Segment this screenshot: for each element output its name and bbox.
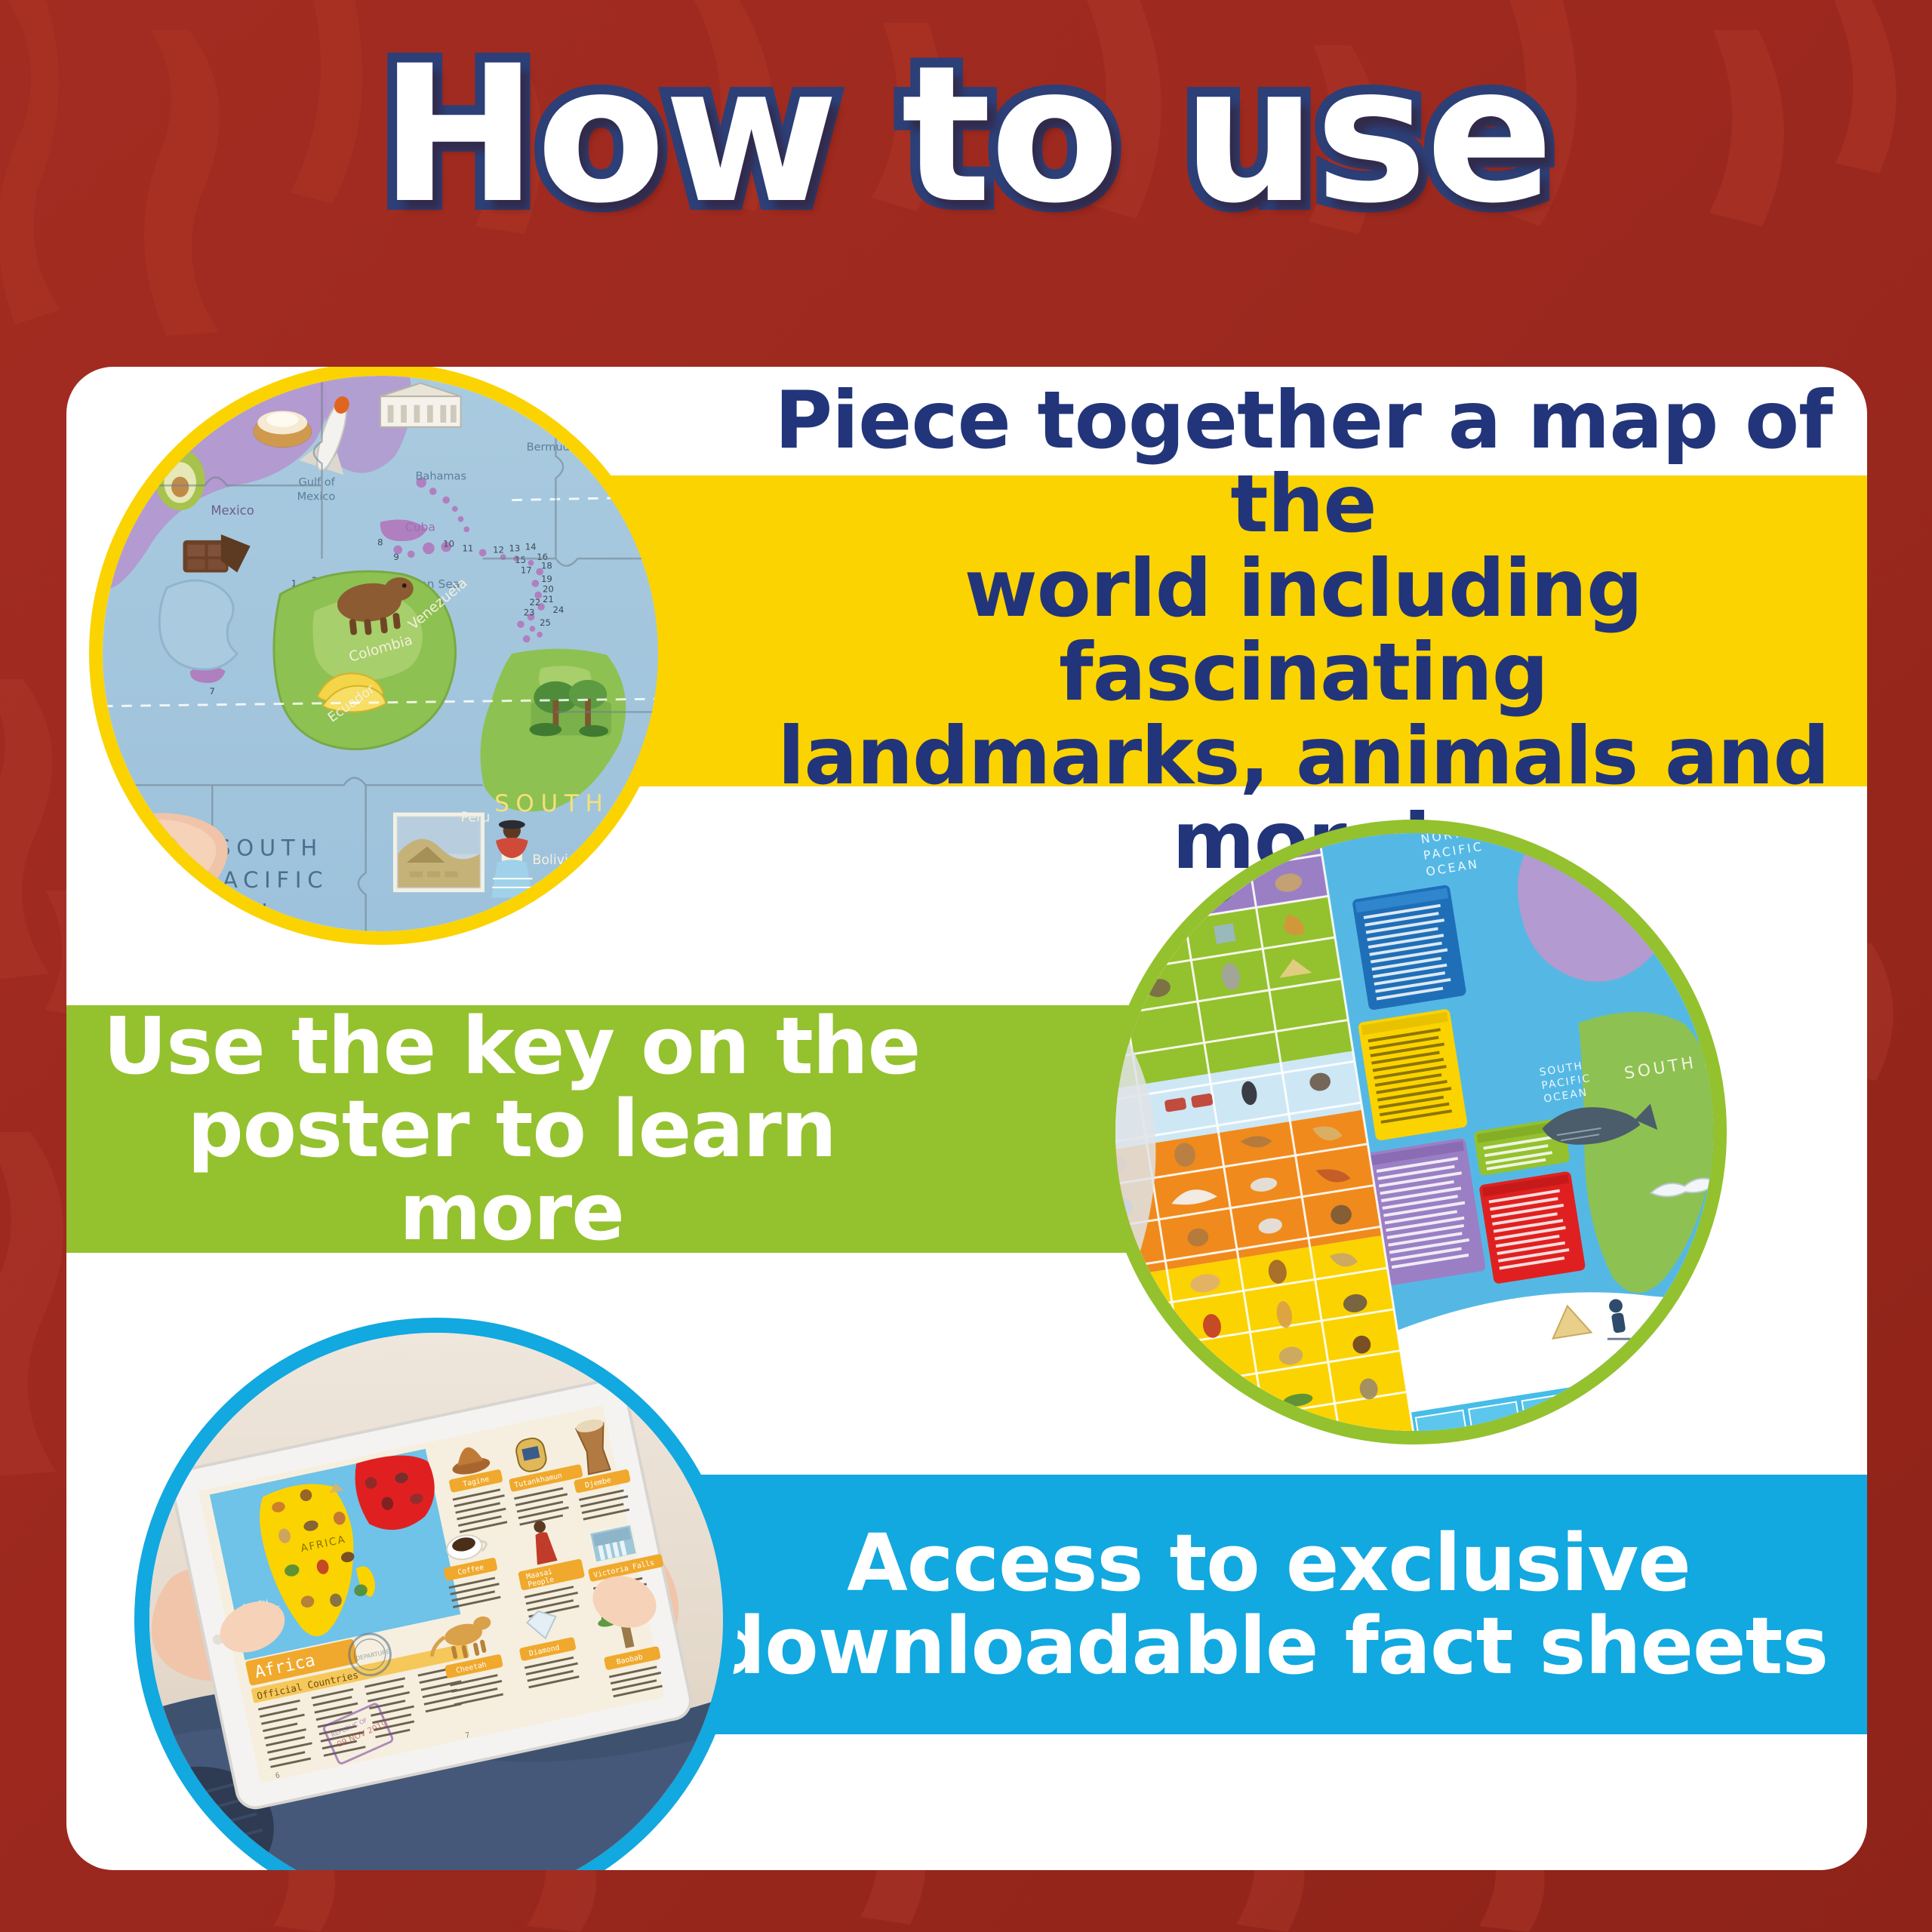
svg-text:Bahamas: Bahamas — [415, 471, 466, 483]
puzzle-map-photo: Mexico Gulf of Mexico — [89, 367, 672, 945]
tablet-factsheet-photo: AFRICA SOUTH ATLANTIC OCEAN — [134, 1318, 738, 1870]
svg-text:SOUTH A: SOUTH A — [494, 790, 646, 817]
svg-text:Braz: Braz — [598, 826, 628, 841]
svg-text:20: 20 — [543, 584, 554, 595]
svg-text:PACIFIC: PACIFIC — [205, 867, 329, 893]
svg-text:SOUTH: SOUTH — [217, 835, 323, 860]
svg-text:13: 13 — [509, 543, 520, 553]
svg-text:EAN: EAN — [211, 900, 273, 925]
svg-text:Mexico: Mexico — [297, 491, 336, 503]
svg-text:Cuba: Cuba — [405, 520, 435, 534]
svg-text:Bermuda: Bermuda — [527, 441, 577, 454]
svg-text:23: 23 — [524, 608, 535, 618]
svg-text:21: 21 — [543, 594, 554, 605]
svg-text:14: 14 — [525, 541, 537, 552]
svg-text:10: 10 — [443, 539, 454, 549]
svg-text:25: 25 — [540, 617, 551, 628]
svg-text:11: 11 — [462, 543, 473, 553]
svg-text:12: 12 — [493, 544, 504, 555]
svg-text:7: 7 — [209, 686, 214, 697]
svg-text:22: 22 — [530, 597, 541, 608]
poster-key-photo: NORTH PACIFIC OCEAN — [1102, 820, 1727, 1444]
content-card: Piece together a map of the world includ… — [66, 367, 1867, 1870]
svg-text:Peru: Peru — [461, 811, 491, 826]
page-title: How to use — [380, 41, 1552, 229]
svg-text:9: 9 — [393, 552, 398, 562]
svg-text:19: 19 — [541, 574, 552, 584]
svg-text:Mexico: Mexico — [211, 503, 254, 518]
puzzle-map-image: Mexico Gulf of Mexico — [103, 376, 658, 931]
tablet-factsheet-image: AFRICA SOUTH ATLANTIC OCEAN — [149, 1333, 723, 1870]
svg-text:Bolivia: Bolivia — [532, 853, 576, 868]
poster-key-image: NORTH PACIFIC OCEAN — [1115, 833, 1713, 1431]
svg-text:24: 24 — [553, 605, 565, 615]
svg-text:17: 17 — [521, 565, 532, 575]
svg-text:15: 15 — [515, 555, 526, 565]
page-title-wrapper: How to use — [0, 26, 1932, 245]
svg-text:18: 18 — [541, 561, 552, 571]
svg-text:Gulf of: Gulf of — [299, 476, 336, 488]
svg-text:8: 8 — [377, 537, 383, 548]
